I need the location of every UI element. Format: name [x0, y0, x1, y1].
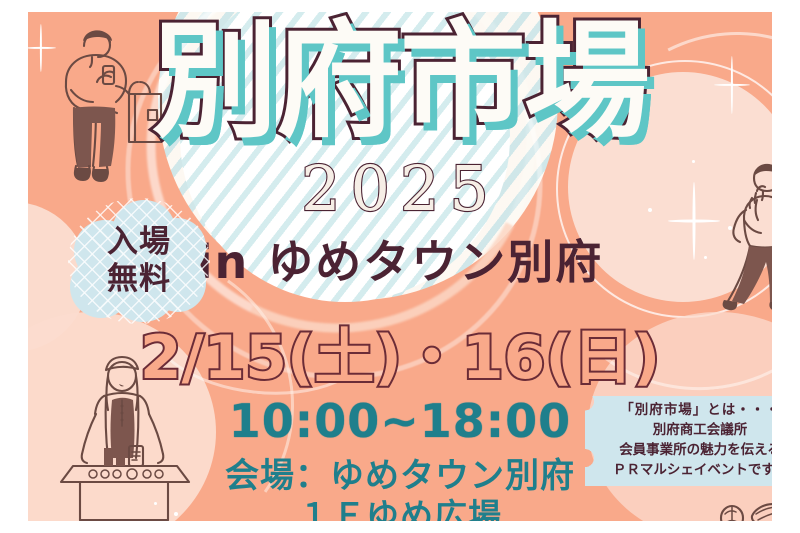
badge-line-2: 無料 — [107, 262, 171, 297]
sparkle-dot — [692, 160, 695, 163]
decor-striped-circle-inner — [180, 12, 510, 302]
sparkle-icon — [668, 182, 720, 260]
screenshot-stage: 別府市場 2025 in ゆめタウン別府 入場 無料 2/15(土)・16(日)… — [0, 0, 800, 533]
about-info-box: 「別府市場」とは・・・ 別府商工会議所 会員事業所の魅力を伝える ＰＲマルシェイ… — [594, 396, 772, 486]
info-line-1: 「別府市場」とは・・・ — [620, 401, 772, 421]
sparkle-dot — [704, 256, 707, 259]
free-entry-badge: 入場 無料 — [68, 198, 210, 324]
info-line-2: 別府商工会議所 — [653, 421, 748, 441]
decor-striped-circle — [158, 12, 558, 300]
shopper-with-bag-illustration — [44, 20, 162, 190]
page-title: 別府市場 — [152, 18, 648, 147]
event-date: 2/15(土)・16(日) — [28, 309, 772, 396]
person-eating-snack-illustration — [716, 160, 772, 312]
badge-line-1: 入場 — [107, 225, 171, 260]
event-poster: 別府市場 2025 in ゆめタウン別府 入場 無料 2/15(土)・16(日)… — [28, 12, 772, 521]
sparkle-dot — [648, 208, 652, 212]
info-line-4: ＰＲマルシェイベントです。 — [613, 461, 772, 481]
event-venue-floor: １Ｆゆめ広場 — [28, 489, 772, 521]
info-line-3: 会員事業所の魅力を伝える — [619, 441, 772, 461]
badge-text: 入場 無料 — [68, 198, 210, 324]
sparkle-icon — [714, 56, 750, 114]
